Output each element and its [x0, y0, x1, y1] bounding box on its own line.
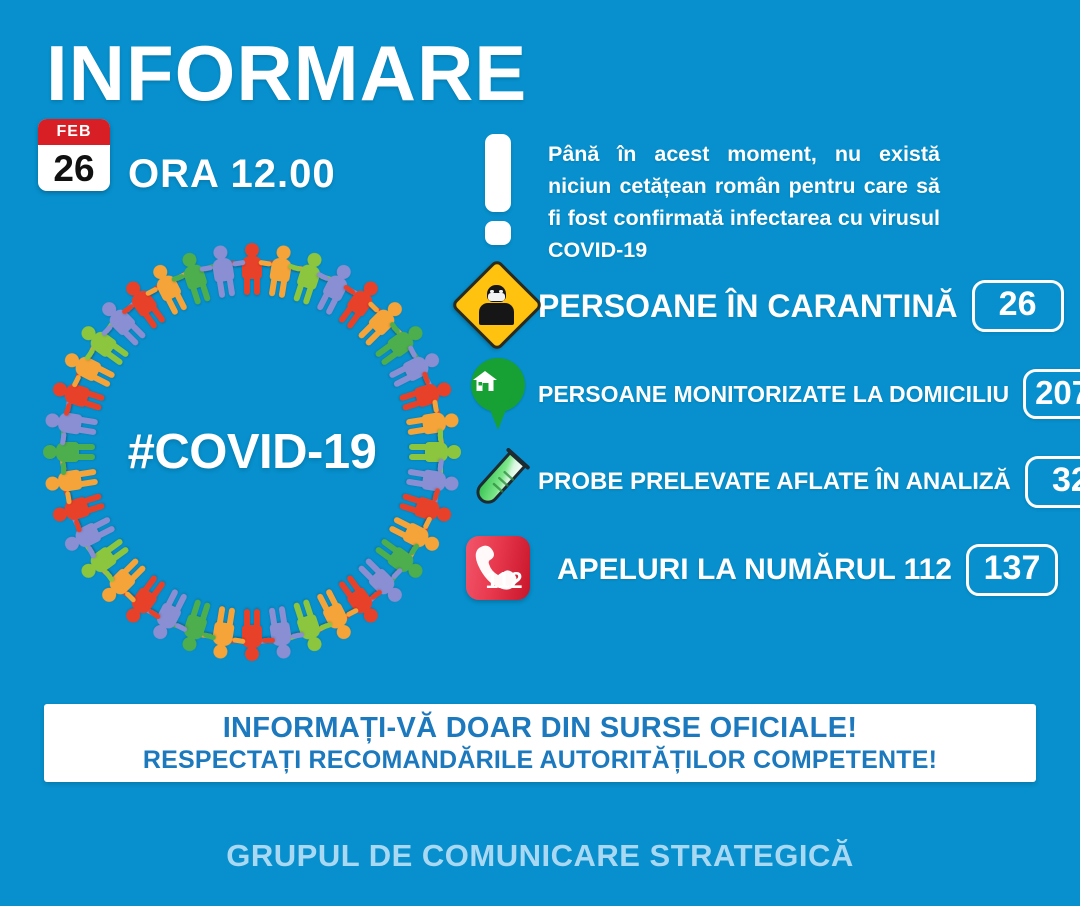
phone-handset-glyph: 112 [466, 536, 530, 600]
masked-person-glyph [458, 266, 538, 346]
exclamation-mark-icon [481, 134, 515, 244]
calendar-day-label: 26 [38, 145, 110, 191]
stat-row-home-monitored: PERSOANE MONITORIZATE LA DOMICILIU 2077 [458, 350, 1058, 438]
statistics-list: PERSOANE ÎN CARANTINĂ 26 PERSOANE MONITO… [458, 262, 1058, 614]
banner-line-1: INFORMAȚI-VĂ DOAR DIN SURSE OFICIALE! [223, 711, 858, 745]
hashtag-label: #COVID-19 [32, 232, 472, 672]
calendar-month-label: FEB [38, 119, 110, 145]
phone-tile-shape: 112 [466, 536, 530, 600]
stat-label: PERSOANE MONITORIZATE LA DOMICILIU [538, 381, 1023, 408]
svg-text:112: 112 [485, 567, 522, 593]
stat-row-samples: PROBE PRELEVATE AFLATE ÎN ANALIZĂ 32 [458, 438, 1058, 526]
official-sources-banner: INFORMAȚI-VĂ DOAR DIN SURSE OFICIALE! RE… [44, 704, 1036, 782]
person-figure-icon [237, 609, 267, 661]
test-tube-glyph [466, 448, 530, 514]
stat-label: PERSOANE ÎN CARANTINĂ [538, 288, 972, 325]
stat-value: 137 [966, 544, 1058, 596]
footer-text: GRUPUL DE COMUNICARE STRATEGICĂ [0, 838, 1080, 874]
test-tube-icon [458, 442, 538, 522]
person-figure-icon [43, 437, 95, 467]
phone-112-icon: 112 [458, 530, 538, 610]
time-label: ORA 12.00 [128, 152, 336, 197]
stat-value: 2077 [1023, 369, 1080, 420]
quarantine-warning-sign-icon [458, 266, 538, 346]
banner-line-2: RESPECTAȚI RECOMANDĂRILE AUTORITĂȚILOR C… [143, 745, 937, 775]
stat-label: PROBE PRELEVATE AFLATE ÎN ANALIZĂ [538, 468, 1025, 496]
stat-row-quarantine: PERSOANE ÎN CARANTINĂ 26 [458, 262, 1058, 350]
stat-row-calls: 112 APELURI LA NUMĂRUL 112 137 [458, 526, 1058, 614]
stat-value: 32 [1025, 456, 1080, 508]
infographic-canvas: INFORMARE FEB 26 ORA 12.00 Până în acest… [0, 0, 1080, 906]
people-holding-hands-circle-icon: #COVID-19 [32, 232, 472, 672]
exclamation-bar [485, 134, 511, 212]
calendar-icon: FEB 26 [38, 119, 110, 191]
exclamation-dot [485, 221, 511, 245]
home-map-pin-icon [458, 354, 538, 434]
stat-label: APELURI LA NUMĂRUL 112 [538, 553, 966, 587]
page-title: INFORMARE [46, 34, 527, 112]
house-glyph [472, 370, 498, 392]
stat-value: 26 [972, 280, 1064, 332]
